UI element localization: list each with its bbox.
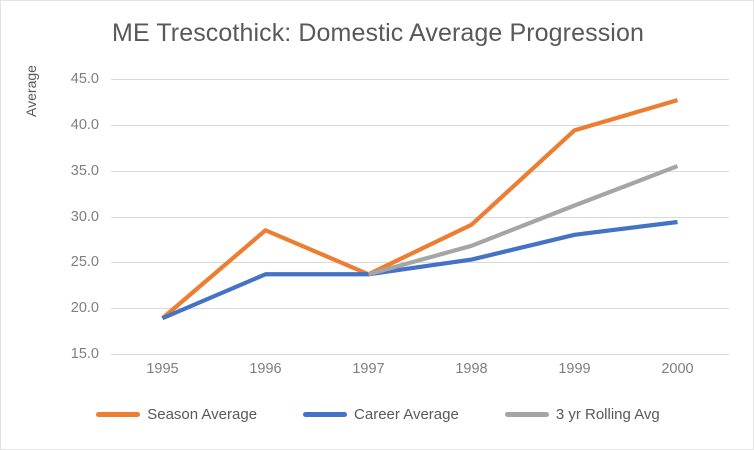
y-tick-label: 25.0 [35,254,99,270]
legend-label: 3 yr Rolling Avg [556,406,660,423]
y-tick-label: 35.0 [35,163,99,179]
y-tick-label: 20.0 [35,300,99,316]
y-tick-label: 40.0 [35,117,99,133]
chart-title: ME Trescothick: Domestic Average Progres… [1,19,754,48]
series-layer [111,79,729,354]
x-tick-label: 1998 [455,361,487,377]
legend-label: Career Average [354,406,459,423]
legend-item[interactable]: 3 yr Rolling Avg [505,406,660,423]
legend-label: Season Average [147,406,257,423]
y-axis-tick-labels: 15.020.025.030.035.040.045.0 [35,79,99,354]
series-line [163,222,678,318]
x-axis-tick-labels: 199519961997199819992000 [111,361,729,383]
x-tick-label: 1996 [249,361,281,377]
legend-swatch-icon [303,412,347,417]
y-tick-label: 30.0 [35,209,99,225]
legend-item[interactable]: Season Average [96,406,257,423]
series-line [369,166,678,274]
x-tick-label: 1997 [352,361,384,377]
legend-swatch-icon [505,412,549,417]
gridline [111,354,729,355]
y-tick-label: 45.0 [35,71,99,87]
plot-area [111,79,729,354]
y-tick-label: 15.0 [35,346,99,362]
x-tick-label: 1999 [558,361,590,377]
legend-swatch-icon [96,412,140,417]
x-tick-label: 1995 [146,361,178,377]
legend-item[interactable]: Career Average [303,406,459,423]
x-tick-label: 2000 [661,361,693,377]
chart-legend: Season AverageCareer Average3 yr Rolling… [1,406,754,423]
chart-container: ME Trescothick: Domestic Average Progres… [0,0,754,450]
